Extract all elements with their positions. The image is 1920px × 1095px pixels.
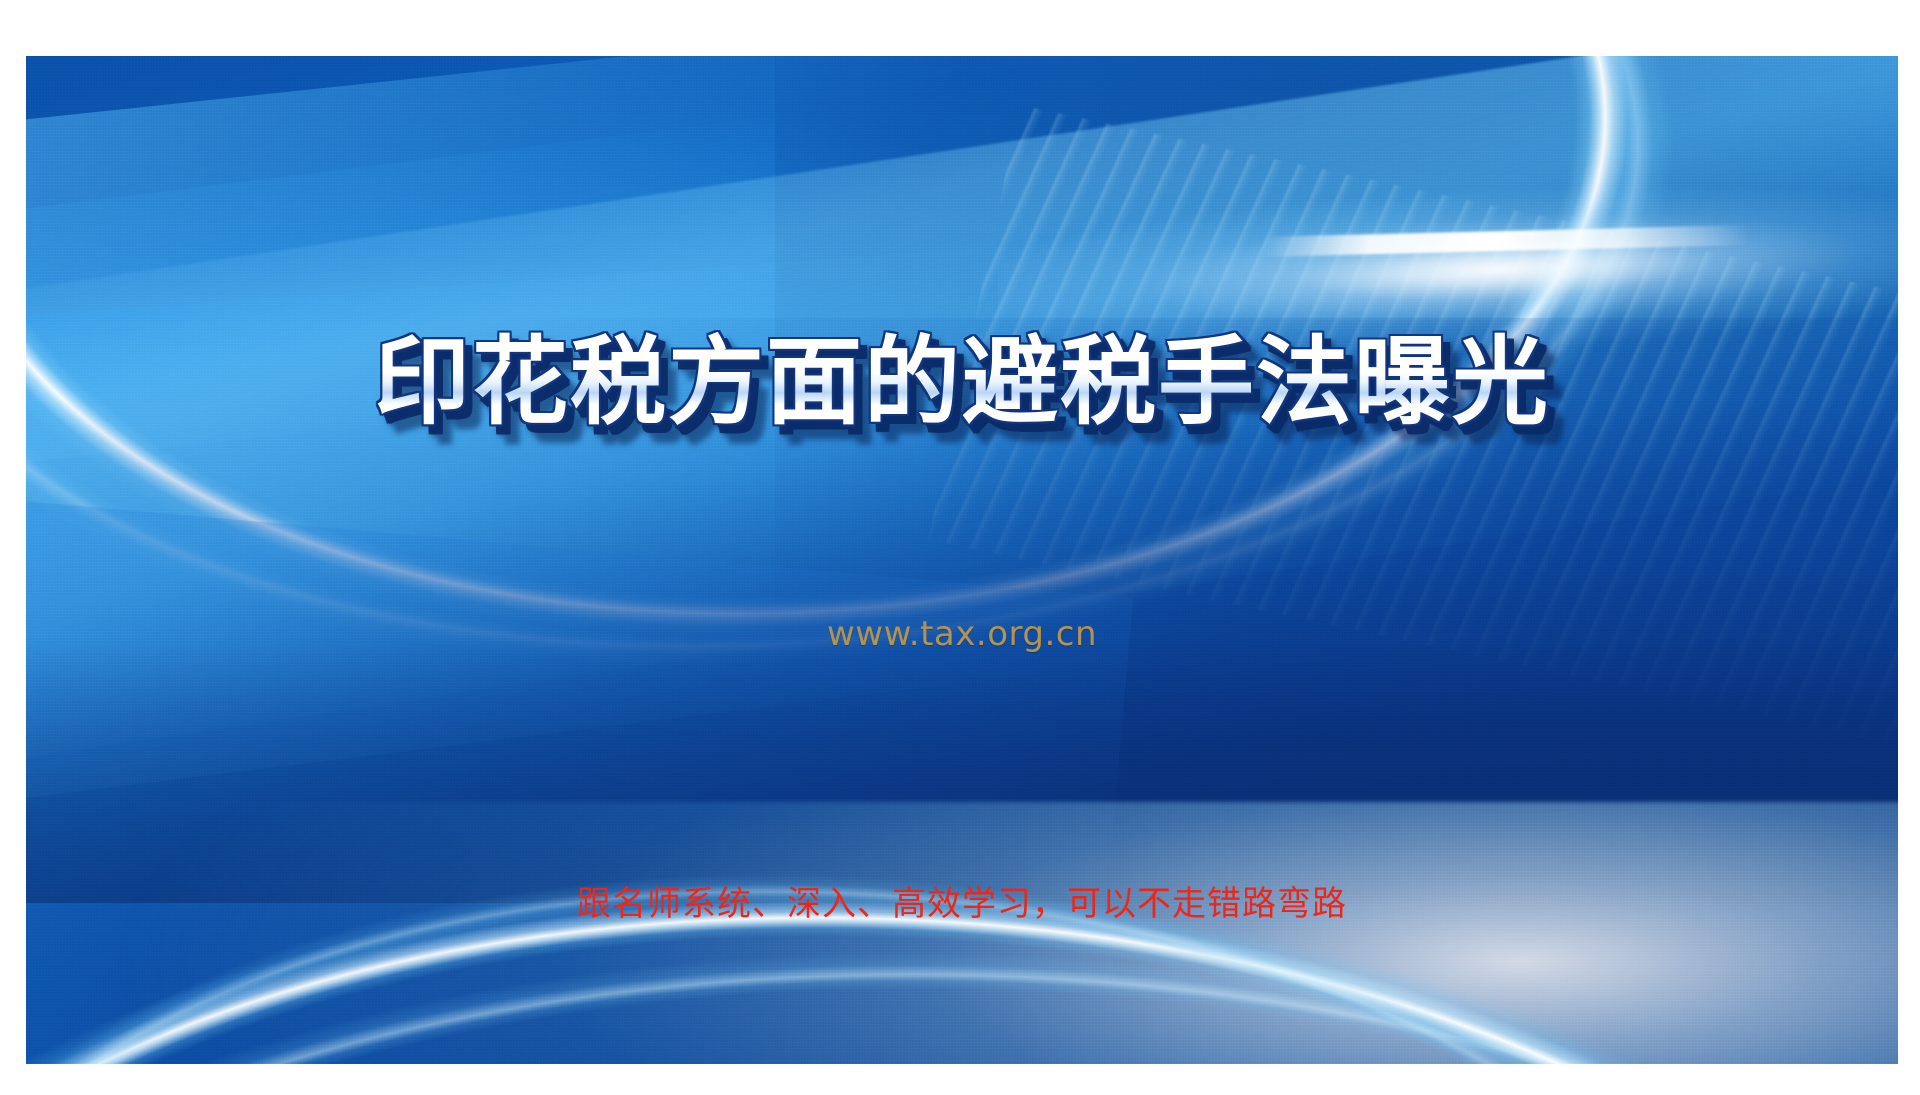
- slide-tagline: 跟名师系统、深入、高效学习，可以不走错路弯路: [26, 876, 1898, 925]
- slide-root: 印花税方面的避税手法曝光 www.tax.org.cn 跟名师系统、深入、高效学…: [0, 0, 1920, 1095]
- website-url: www.tax.org.cn: [26, 614, 1898, 654]
- slide-title: 印花税方面的避税手法曝光: [26, 332, 1898, 433]
- slide-canvas: 印花税方面的避税手法曝光 www.tax.org.cn 跟名师系统、深入、高效学…: [26, 56, 1898, 1064]
- slide-text-layer: 印花税方面的避税手法曝光 www.tax.org.cn 跟名师系统、深入、高效学…: [26, 56, 1898, 1064]
